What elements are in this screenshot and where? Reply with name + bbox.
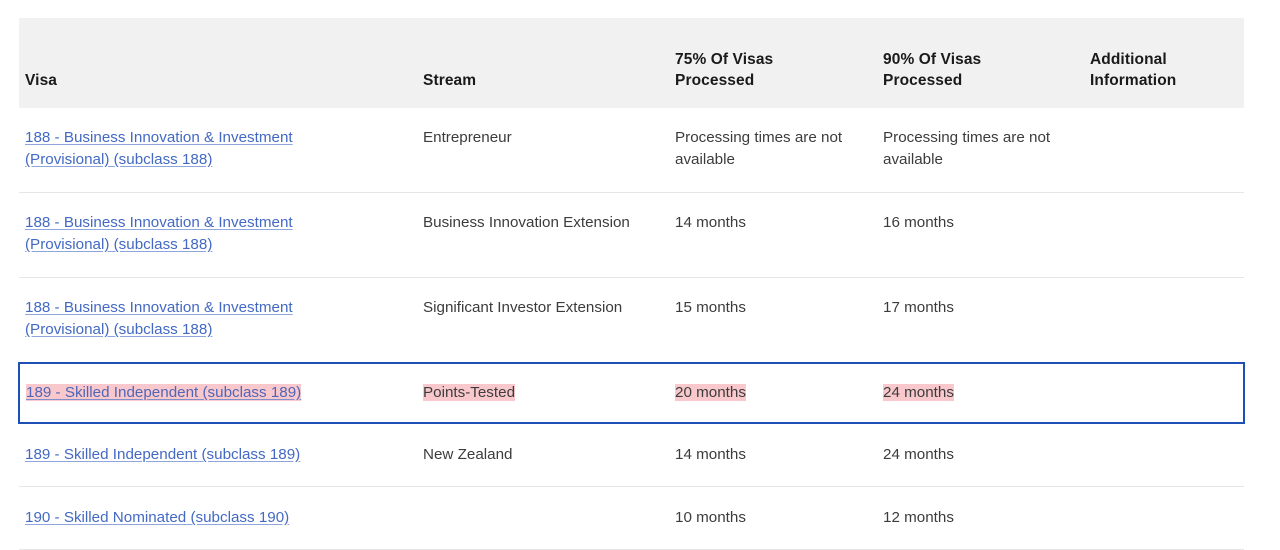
- cell-75-percent-processed: 15 months: [669, 278, 877, 364]
- selection-highlight: 189 - Skilled Independent (subclass 189): [26, 384, 301, 401]
- table-header-row: Visa Stream 75% Of Visas Processed 90% O…: [19, 18, 1244, 108]
- cell-additional-information: [1084, 193, 1244, 278]
- cell-75-percent-processed: 10 months: [669, 487, 877, 550]
- cell-additional-information: [1084, 278, 1244, 364]
- table-row[interactable]: 188 - Business Innovation & Investment(P…: [19, 108, 1244, 193]
- cell-visa: 189 - Skilled Independent (subclass 189): [19, 363, 417, 423]
- column-header-90-line1: 90% Of Visas: [883, 51, 981, 68]
- column-header-75-line2: Processed: [675, 72, 754, 89]
- column-header-additional-line2: Information: [1090, 72, 1176, 89]
- page-root: Visa Stream 75% Of Visas Processed 90% O…: [0, 0, 1280, 543]
- cell-75-percent-processed: 14 months: [669, 423, 877, 487]
- selection-highlight: Points-Tested: [423, 384, 515, 401]
- column-header-stream: Stream: [417, 18, 669, 108]
- cell-90-percent-processed: 12 months: [877, 487, 1084, 550]
- visa-link[interactable]: 189 - Skilled Independent (subclass 189): [26, 384, 301, 401]
- column-header-visa: Visa: [19, 18, 417, 108]
- table-row[interactable]: 189 - Skilled Independent (subclass 189)…: [19, 363, 1244, 423]
- cell-stream: Business Innovation Extension: [417, 193, 669, 278]
- cell-additional-information: [1084, 423, 1244, 487]
- cell-additional-information: [1084, 108, 1244, 193]
- column-header-90-percent-processed: 90% Of Visas Processed: [877, 18, 1084, 108]
- cell-90-percent-processed: 24 months: [877, 363, 1084, 423]
- table-header: Visa Stream 75% Of Visas Processed 90% O…: [19, 18, 1244, 108]
- visa-link[interactable]: 188 - Business Innovation & Investment(P…: [25, 214, 293, 253]
- cell-visa: 189 - Skilled Independent (subclass 189): [19, 423, 417, 487]
- visa-link[interactable]: 188 - Business Innovation & Investment(P…: [25, 299, 293, 338]
- cell-stream: [417, 487, 669, 550]
- cell-additional-information: [1084, 487, 1244, 550]
- cell-90-percent-processed: 24 months: [877, 423, 1084, 487]
- cell-visa: 188 - Business Innovation & Investment(P…: [19, 193, 417, 278]
- column-header-90-line2: Processed: [883, 72, 962, 89]
- visa-link[interactable]: 188 - Business Innovation & Investment(P…: [25, 129, 293, 168]
- cell-stream: New Zealand: [417, 423, 669, 487]
- cell-75-percent-processed: 20 months: [669, 363, 877, 423]
- cell-90-percent-processed: 16 months: [877, 193, 1084, 278]
- cell-visa: 190 - Skilled Nominated (subclass 190): [19, 487, 417, 550]
- visa-link[interactable]: 190 - Skilled Nominated (subclass 190): [25, 509, 289, 526]
- table-container: Visa Stream 75% Of Visas Processed 90% O…: [18, 18, 1243, 550]
- visa-link[interactable]: 189 - Skilled Independent (subclass 189): [25, 446, 300, 463]
- cell-stream: Entrepreneur: [417, 108, 669, 193]
- column-header-additional-line1: Additional: [1090, 51, 1167, 68]
- table-row[interactable]: 189 - Skilled Independent (subclass 189)…: [19, 423, 1244, 487]
- column-header-additional-information: Additional Information: [1084, 18, 1244, 108]
- selection-highlight: 24 months: [883, 384, 954, 401]
- visa-processing-times-table: Visa Stream 75% Of Visas Processed 90% O…: [18, 18, 1245, 550]
- cell-visa: 188 - Business Innovation & Investment(P…: [19, 108, 417, 193]
- column-header-75-line1: 75% Of Visas: [675, 51, 773, 68]
- cell-90-percent-processed: Processing times are not available: [877, 108, 1084, 193]
- selection-highlight: 20 months: [675, 384, 746, 401]
- table-row[interactable]: 188 - Business Innovation & Investment(P…: [19, 193, 1244, 278]
- cell-75-percent-processed: 14 months: [669, 193, 877, 278]
- column-header-75-percent-processed: 75% Of Visas Processed: [669, 18, 877, 108]
- cell-90-percent-processed: 17 months: [877, 278, 1084, 364]
- table-row[interactable]: 188 - Business Innovation & Investment(P…: [19, 278, 1244, 364]
- cell-additional-information: [1084, 363, 1244, 423]
- cell-visa: 188 - Business Innovation & Investment(P…: [19, 278, 417, 364]
- cell-75-percent-processed: Processing times are not available: [669, 108, 877, 193]
- cell-stream: Significant Investor Extension: [417, 278, 669, 364]
- table-row[interactable]: 190 - Skilled Nominated (subclass 190)10…: [19, 487, 1244, 550]
- cell-stream: Points-Tested: [417, 363, 669, 423]
- table-body: 188 - Business Innovation & Investment(P…: [19, 108, 1244, 550]
